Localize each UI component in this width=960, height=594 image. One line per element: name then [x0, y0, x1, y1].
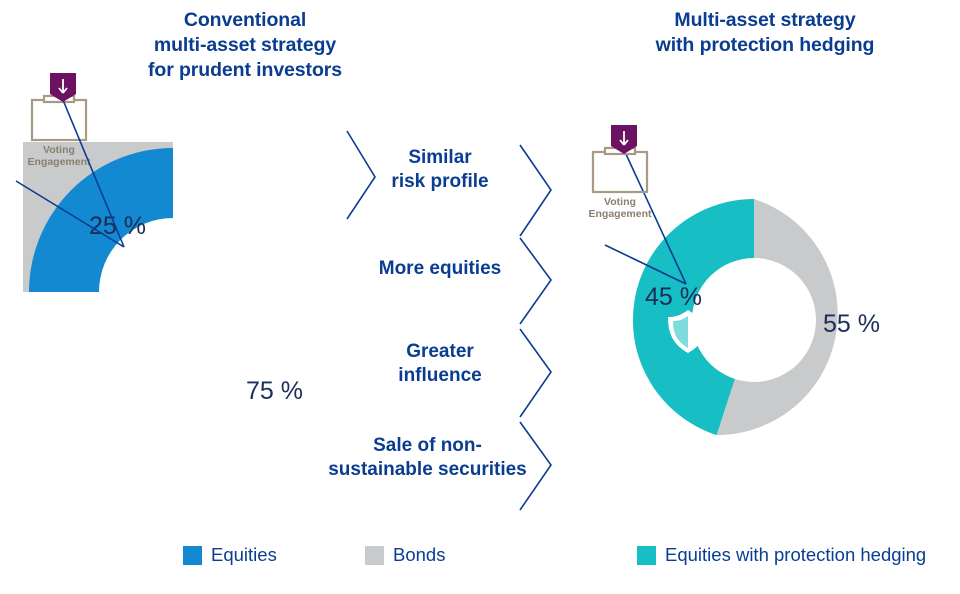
step-label-sale-of-non-sustainable-securities: Sale of non- sustainable securities: [300, 434, 555, 482]
step-label-more-equities: More equities: [325, 257, 555, 281]
step-4-line2: sustainable securities: [300, 458, 555, 482]
step-3-line2: influence: [325, 364, 555, 388]
step-label-greater-influence: Greater influence: [325, 340, 555, 388]
right-chart-title: Multi-asset strategy with protection hed…: [575, 8, 955, 58]
step-3-line1: Greater: [325, 340, 555, 364]
step-1-line1: Similar: [325, 146, 555, 170]
right-equities-value: 45 %: [645, 283, 702, 312]
left-equities-value: 25 %: [89, 212, 146, 241]
left-chart-title-line1: Conventional: [55, 8, 435, 33]
right-bonds-value: 55 %: [823, 310, 880, 339]
voting-caption-line2-right: Engagement: [588, 208, 651, 220]
voting-caption-line1-right: Voting: [604, 196, 636, 208]
voting-caption-line1-left: Voting: [43, 144, 75, 156]
ballot-box-icon-right: [575, 122, 675, 202]
ballot-box-icon-left: [14, 70, 114, 150]
voting-engagement-caption-right: Voting Engagement: [575, 196, 665, 220]
voting-engagement-icon-right: Voting Engagement: [575, 122, 675, 232]
legend-item-equities: Equities: [183, 544, 277, 566]
legend-label-bonds: Bonds: [393, 544, 445, 566]
step-4-line1: Sale of non-: [300, 434, 555, 458]
voting-engagement-caption-left: Voting Engagement: [14, 144, 104, 168]
right-chart-title-line2: with protection hedging: [575, 33, 955, 58]
legend-item-bonds: Bonds: [365, 544, 445, 566]
legend-swatch-bonds: [365, 546, 384, 565]
step-label-similar-risk-profile: Similar risk profile: [325, 146, 555, 194]
legend-swatch-equities-hedged: [637, 546, 656, 565]
voting-caption-line2-left: Engagement: [27, 156, 90, 168]
step-2-line1: More equities: [325, 257, 555, 281]
right-donut-hole: [692, 258, 816, 382]
legend-swatch-equities: [183, 546, 202, 565]
legend-label-equities-hedged: Equities with protection hedging: [665, 544, 926, 566]
right-chart-title-line1: Multi-asset strategy: [575, 8, 955, 33]
legend-item-equities-hedged: Equities with protection hedging: [637, 544, 926, 566]
step-1-line2: risk profile: [325, 170, 555, 194]
left-bonds-value: 75 %: [246, 377, 303, 406]
legend-label-equities: Equities: [211, 544, 277, 566]
voting-engagement-icon-left: Voting Engagement: [14, 70, 114, 180]
left-chart-title-line2: multi-asset strategy: [55, 33, 435, 58]
